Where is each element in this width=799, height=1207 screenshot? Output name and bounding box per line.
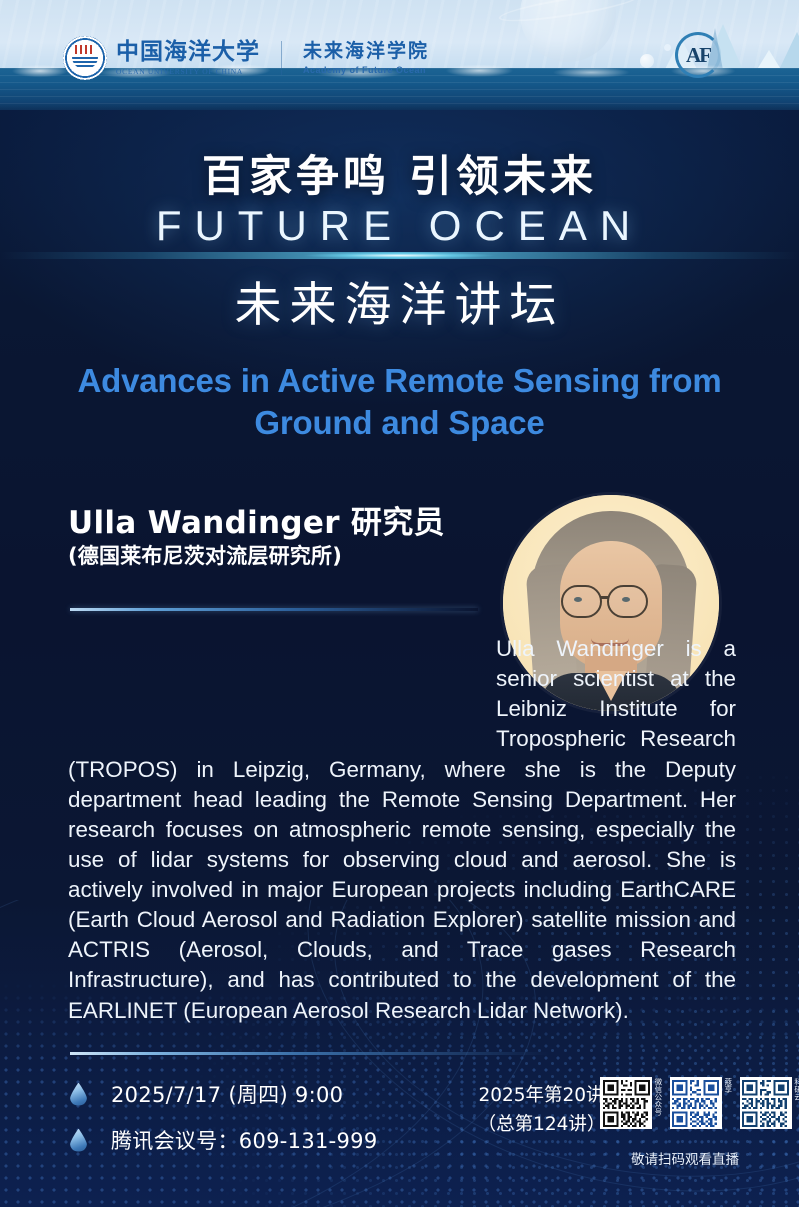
event-info: 2025/7/17 (周四) 9:00 腾讯会议号：609-131-999 xyxy=(70,1079,378,1171)
slogan-cn: 百家争鸣 引领未来 xyxy=(0,142,799,204)
speaker-bio: Ulla Wandinger is a senior scientist at … xyxy=(68,634,736,1026)
qr-code-research-cloud[interactable] xyxy=(740,1077,792,1129)
water-drop-icon xyxy=(70,1083,87,1106)
qr-label-wechat: 微信公众号 xyxy=(654,1077,662,1129)
university-branding: 中国海洋大学 OCEAN UNIVERSITY OF CHINA 未来海洋学院 … xyxy=(63,36,429,80)
af-logo-text: AF xyxy=(675,32,721,78)
lecture-number-line2: （总第124讲） xyxy=(474,1111,609,1140)
event-meeting-id: 腾讯会议号：609-131-999 xyxy=(111,1125,378,1155)
academy-name-cn: 未来海洋学院 xyxy=(303,42,429,61)
glow-divider xyxy=(0,252,799,259)
bio-wrap-spacer xyxy=(68,634,496,742)
qr-code-koushare[interactable] xyxy=(670,1077,722,1129)
brand-future-ocean: FUTURE OCEAN xyxy=(0,202,799,250)
qr-code-image xyxy=(742,1080,789,1127)
qr-code-image xyxy=(672,1080,719,1127)
section-divider-top xyxy=(70,608,478,611)
logo-divider xyxy=(281,41,282,75)
event-datetime-row: 2025/7/17 (周四) 9:00 xyxy=(70,1079,378,1109)
qr-code-group: 微信公众号 蔻享 xyxy=(600,1077,799,1129)
lecture-number: 2025年第20讲 （总第124讲） xyxy=(474,1082,609,1139)
speaker-name: Ulla Wandinger 研究员 xyxy=(68,497,445,542)
section-divider-bottom xyxy=(70,1052,736,1055)
poster-canvas: 中国海洋大学 OCEAN UNIVERSITY OF CHINA 未来海洋学院 … xyxy=(0,0,799,1207)
qr-label-research-cloud: 科研云 xyxy=(794,1077,799,1129)
forum-name-cn: 未来海洋讲坛 xyxy=(0,266,799,335)
event-meeting-row: 腾讯会议号：609-131-999 xyxy=(70,1125,378,1155)
qr-code-image xyxy=(603,1080,650,1127)
af-logo-icon: AF xyxy=(675,32,721,78)
qr-item-koushare[interactable]: 蔻享 xyxy=(670,1077,732,1129)
academy-name-en: Academy of Future Ocean xyxy=(303,65,429,75)
qr-label-koushare: 蔻享 xyxy=(724,1077,732,1129)
scan-caption: 敬请扫码观看直播 xyxy=(600,1148,770,1168)
ouc-seal-icon xyxy=(63,36,107,80)
qr-item-wechat[interactable]: 微信公众号 xyxy=(600,1077,662,1129)
lecture-number-line1: 2025年第20讲 xyxy=(474,1082,609,1111)
talk-title: Advances in Active Remote Sensing from G… xyxy=(48,360,751,444)
university-name-cn: 中国海洋大学 xyxy=(116,41,260,64)
water-drop-icon xyxy=(70,1129,87,1152)
event-datetime: 2025/7/17 (周四) 9:00 xyxy=(111,1079,343,1109)
qr-item-research-cloud[interactable]: 科研云 xyxy=(740,1077,799,1129)
speaker-affiliation: (德国莱布尼茨对流层研究所) xyxy=(68,540,342,570)
qr-code-wechat[interactable] xyxy=(600,1077,652,1129)
university-name-en: OCEAN UNIVERSITY OF CHINA xyxy=(116,67,260,76)
